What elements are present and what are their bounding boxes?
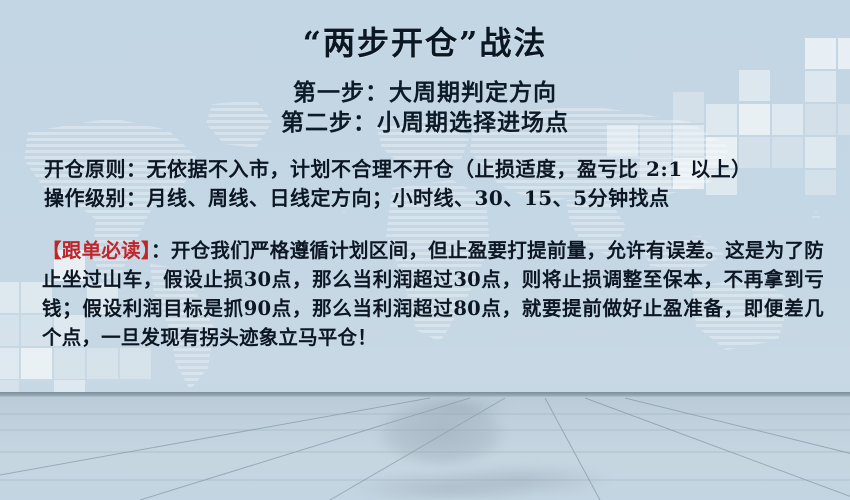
rules-block: 开仓原则：无依据不入市，计划不合理不开仓（止损适度，盈亏比 2:1 以上） 操作…	[44, 155, 834, 213]
step-line-2: 第二步：小周期选择进场点	[0, 108, 850, 138]
must-read-note: 【跟单必读】：开仓我们严格遵循计划区间，但止盈要打提前量，允许有误差。这是为了防…	[42, 236, 824, 352]
rule-line-operation-level: 操作级别：月线、周线、日线定方向；小时线、30、15、5分钟找点	[44, 184, 834, 213]
slide-content: “两步开仓”战法 第一步：大周期判定方向 第二步：小周期选择进场点 开仓原则：无…	[0, 0, 850, 500]
rule-line-open-principle: 开仓原则：无依据不入市，计划不合理不开仓（止损适度，盈亏比 2:1 以上）	[44, 155, 834, 184]
slide-title: “两步开仓”战法	[0, 18, 850, 64]
must-read-tag: 【跟单必读】	[42, 239, 151, 262]
steps-block: 第一步：大周期判定方向 第二步：小周期选择进场点	[0, 78, 850, 138]
must-read-body: ：开仓我们严格遵循计划区间，但止盈要打提前量，允许有误差。这是为了防止坐过山车，…	[42, 239, 824, 349]
step-line-1: 第一步：大周期判定方向	[0, 78, 850, 108]
slide-canvas: “两步开仓”战法 第一步：大周期判定方向 第二步：小周期选择进场点 开仓原则：无…	[0, 0, 850, 500]
